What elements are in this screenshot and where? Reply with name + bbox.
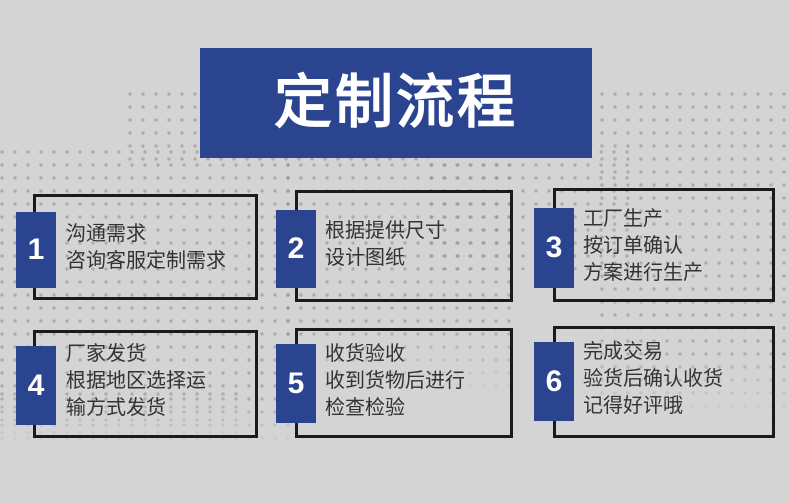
- step-text-line: 收货验收: [325, 341, 465, 368]
- step-text-line: 根据地区选择运: [66, 368, 206, 395]
- step-text-6: 完成交易 验货后确认收货 记得好评哦: [583, 339, 723, 420]
- step-number-badge-3: 3: [534, 208, 574, 288]
- step-text-3: 工厂生产 按订单确认 方案进行生产: [583, 206, 703, 287]
- step-text-line: 记得好评哦: [583, 393, 723, 420]
- step-text-line: 验货后确认收货: [583, 366, 723, 393]
- step-text-5: 收货验收 收到货物后进行 检查检验: [325, 341, 465, 422]
- step-text-line: 设计图纸: [325, 245, 445, 272]
- step-number-badge-2: 2: [276, 210, 316, 288]
- step-text-line: 沟通需求: [66, 221, 226, 248]
- step-text-line: 根据提供尺寸: [325, 218, 445, 245]
- step-text-line: 完成交易: [583, 339, 723, 366]
- step-text-line: 输方式发货: [66, 395, 206, 422]
- step-text-line: 检查检验: [325, 395, 465, 422]
- step-text-line: 咨询客服定制需求: [66, 248, 226, 275]
- step-text-line: 工厂生产: [583, 206, 703, 233]
- step-number-badge-6: 6: [534, 342, 574, 421]
- customization-process-infographic: 定制流程 1 沟通需求 咨询客服定制需求 2 根据提供尺寸 设计图纸 3 工厂生…: [0, 0, 790, 503]
- step-text-line: 按订单确认: [583, 233, 703, 260]
- step-text-line: 厂家发货: [66, 341, 206, 368]
- step-text-4: 厂家发货 根据地区选择运 输方式发货: [66, 341, 206, 422]
- step-number-badge-1: 1: [16, 212, 56, 288]
- step-number-badge-4: 4: [16, 346, 56, 425]
- step-text-2: 根据提供尺寸 设计图纸: [325, 218, 445, 272]
- step-text-line: 方案进行生产: [583, 260, 703, 287]
- step-text-1: 沟通需求 咨询客服定制需求: [66, 221, 226, 275]
- step-number-badge-5: 5: [276, 344, 316, 423]
- page-title: 定制流程: [274, 74, 518, 132]
- title-banner: 定制流程: [200, 48, 592, 158]
- step-text-line: 收到货物后进行: [325, 368, 465, 395]
